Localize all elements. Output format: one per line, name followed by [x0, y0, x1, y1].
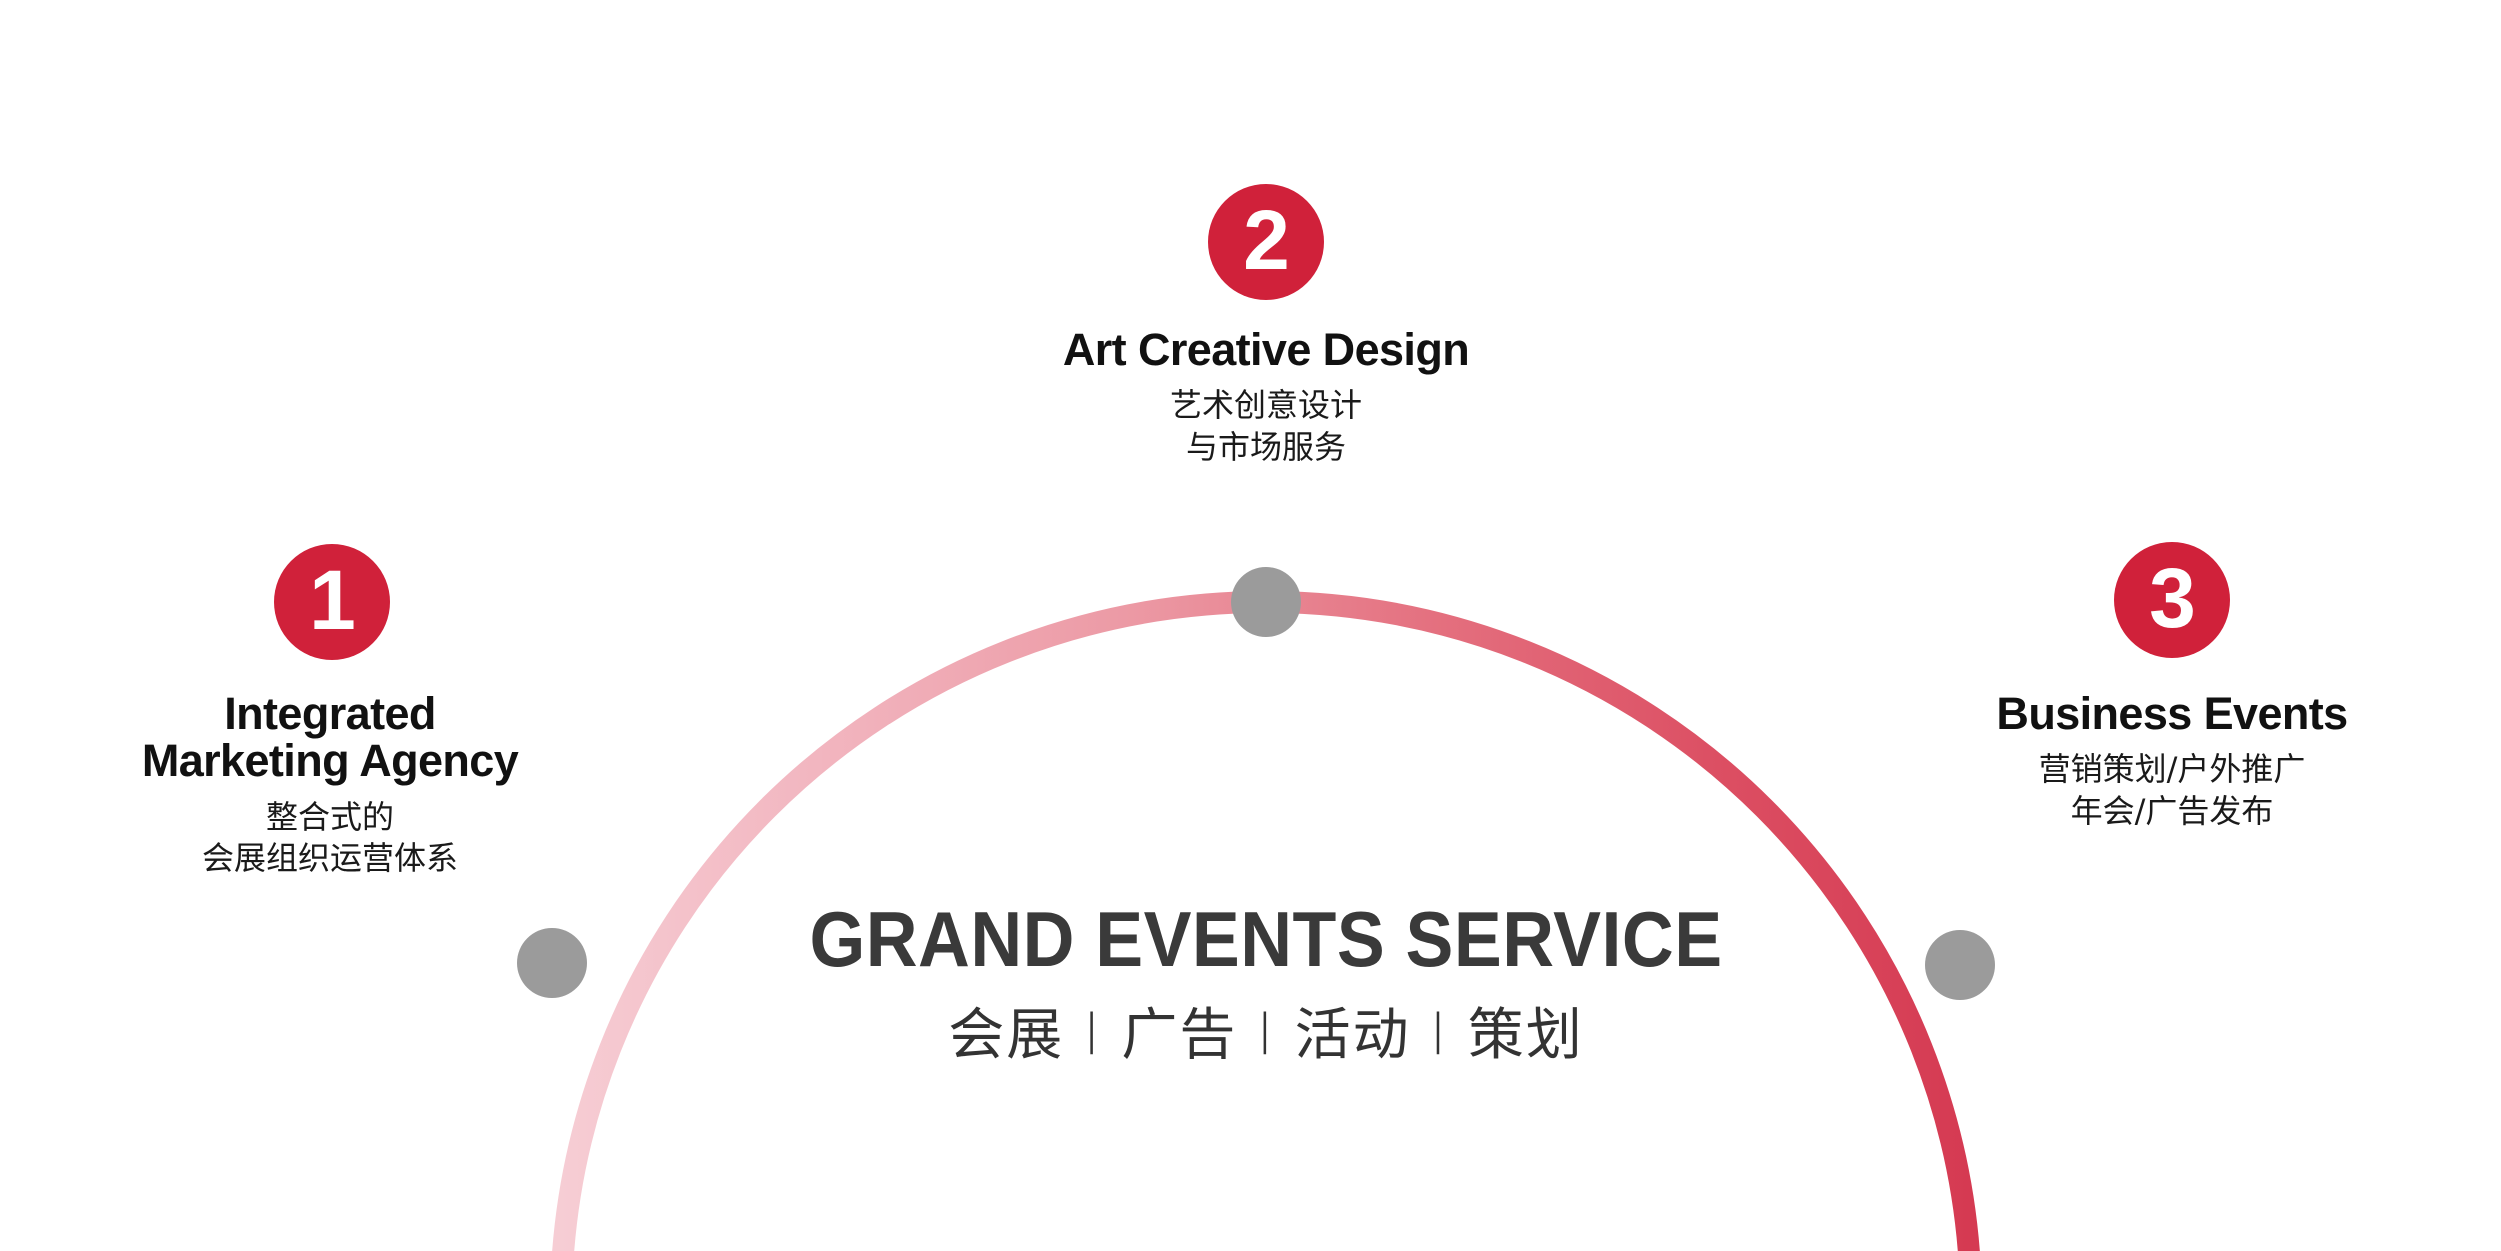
center-headline-block: GRAND EVENTS SERVICE 会展 l 广告 l 活动 l 策划: [533, 900, 1999, 1064]
center-title: GRAND EVENTS SERVICE: [592, 900, 1941, 978]
node-dot-top: [1231, 567, 1301, 637]
center-subtitle: 会展 l 广告 l 活动 l 策划: [533, 1008, 1999, 1064]
step-block-1: Integrated Marketing Agency 整合式的 会展组织运营体…: [0, 690, 660, 880]
step-subtitle-3: 营销策划/户外推广 年会/广告发布: [1872, 749, 2472, 832]
step-number-3: 3: [2149, 556, 2195, 640]
step-title-2: Art Creative Design: [916, 326, 1616, 373]
infographic-canvas: 1 Integrated Marketing Agency 整合式的 会展组织运…: [0, 0, 2501, 1251]
step-number-1: 1: [309, 558, 355, 642]
step-subtitle-2: 艺术创意设计 与市场服务: [916, 385, 1616, 468]
step-badge-1: 1: [274, 544, 390, 660]
step-number-2: 2: [1243, 198, 1289, 282]
step-title-3: Business Events: [1872, 690, 2472, 737]
step-title-1: Integrated Marketing Agency: [0, 690, 660, 785]
step-badge-2: 2: [1208, 184, 1324, 300]
step-block-2: Art Creative Design 艺术创意设计 与市场服务: [916, 326, 1616, 468]
step-badge-3: 3: [2114, 542, 2230, 658]
step-block-3: Business Events 营销策划/户外推广 年会/广告发布: [1872, 690, 2472, 832]
step-subtitle-1: 整合式的 会展组织运营体系: [0, 797, 660, 880]
